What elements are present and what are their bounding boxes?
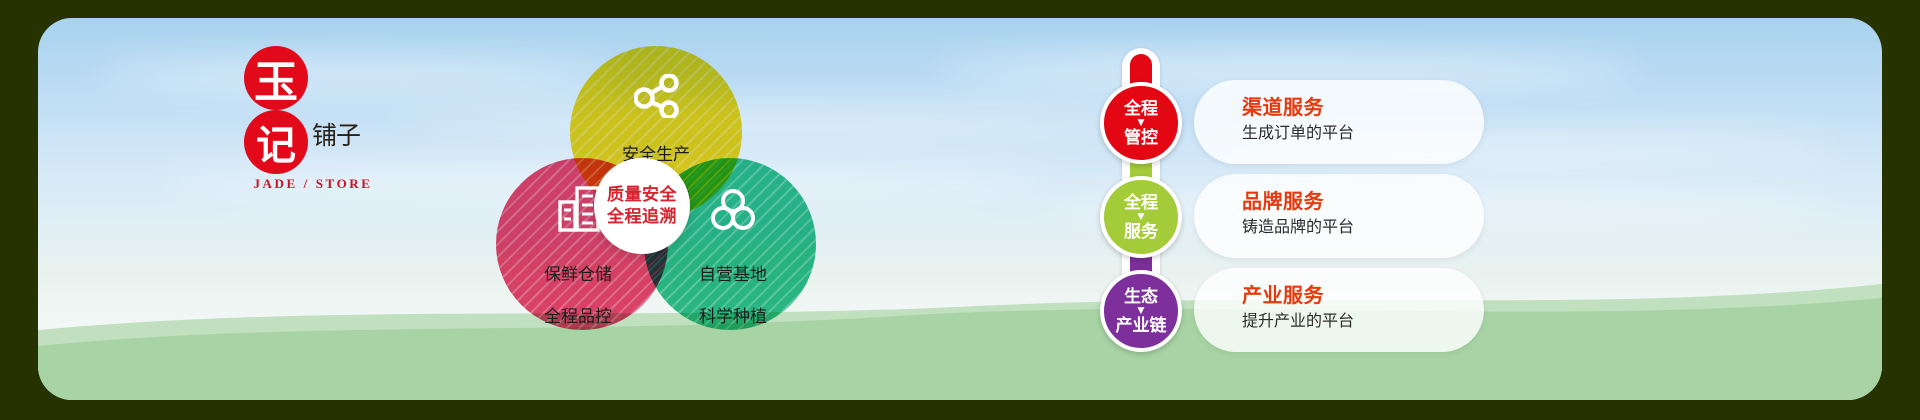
service-subtitle: 铸造品牌的平台	[1242, 214, 1484, 239]
service-card-channel[interactable]: 渠道服务 生成订单的平台	[1194, 80, 1484, 164]
venn-center-line1: 质量安全	[607, 184, 677, 206]
venn-label-line1: 保鲜仓储	[508, 265, 648, 286]
venn-label-red: 保鲜仓储 全程品控	[508, 244, 648, 349]
caret-down-icon: ▼	[1138, 214, 1145, 221]
service-title: 渠道服务	[1242, 94, 1484, 120]
venn-label-line2: 全程品控	[508, 307, 648, 328]
service-node-channel[interactable]: 全程 ▼ 管控	[1100, 82, 1182, 164]
caret-down-icon: ▼	[1138, 120, 1145, 127]
service-card-brand[interactable]: 品牌服务 铸造品牌的平台	[1194, 174, 1484, 258]
service-subtitle: 生成订单的平台	[1242, 120, 1484, 145]
seal-bottom: 记	[244, 110, 308, 174]
service-node-bottom: 管控	[1124, 128, 1158, 148]
seal-top: 玉	[244, 46, 308, 110]
venn-label-line1: 自营基地	[663, 265, 803, 286]
service-node-top: 生态	[1124, 287, 1158, 307]
hill-foreground	[38, 250, 1882, 400]
venn-label-line2: 科学种植	[663, 307, 803, 328]
service-title: 产业服务	[1242, 282, 1484, 308]
caret-down-icon: ▼	[1138, 308, 1145, 315]
service-node-bottom: 产业链	[1116, 316, 1167, 336]
service-title: 品牌服务	[1242, 188, 1484, 214]
share-icon	[634, 74, 680, 118]
brand-name-cn: 铺子	[312, 124, 360, 147]
service-subtitle: 提升产业的平台	[1242, 308, 1484, 333]
service-card-industry[interactable]: 产业服务 提升产业的平台	[1194, 268, 1484, 352]
banner-root: 玉 记 铺子 JADE / STORE	[0, 0, 1920, 420]
venn-center-badge: 质量安全 全程追溯	[594, 158, 690, 254]
brand-name-en: JADE / STORE	[238, 176, 388, 192]
service-node-top: 全程	[1124, 99, 1158, 119]
venn-diagram: 安全生产 物流配送 保鲜仓储 全程品控 自营基地 科学种植 质量安全 全程追溯	[496, 46, 816, 331]
service-node-brand[interactable]: 全程 ▼ 服务	[1100, 176, 1182, 258]
service-node-top: 全程	[1124, 193, 1158, 213]
service-list: 渠道服务 生成订单的平台 品牌服务 铸造品牌的平台 产业服务 提升产业的平台 全…	[1078, 48, 1548, 373]
venn-center-line2: 全程追溯	[607, 206, 677, 228]
venn-label-green: 自营基地 科学种植	[663, 244, 803, 349]
banner-panel: 玉 记 铺子 JADE / STORE	[38, 18, 1882, 400]
service-node-industry[interactable]: 生态 ▼ 产业链	[1100, 270, 1182, 352]
brand-logo: 玉 记 铺子 JADE / STORE	[224, 46, 394, 188]
service-node-bottom: 服务	[1124, 222, 1158, 242]
brand-name-cn-text: 铺子	[312, 121, 360, 150]
